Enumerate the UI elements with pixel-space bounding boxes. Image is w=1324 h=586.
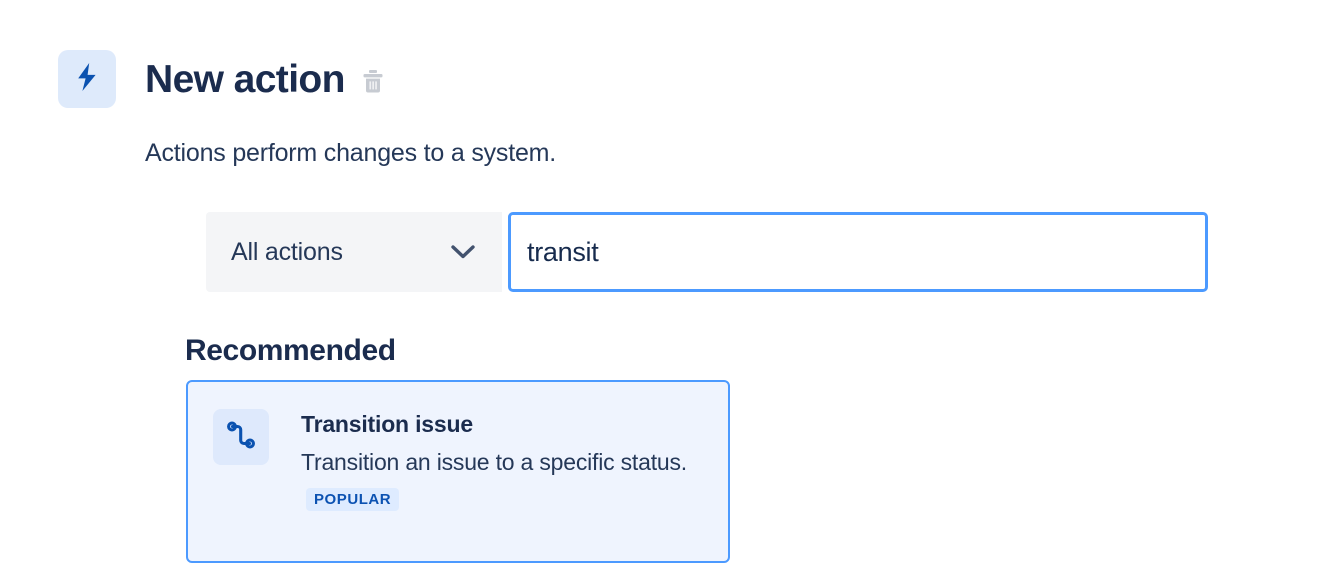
- action-card-title: Transition issue: [301, 410, 708, 439]
- lightning-bolt-icon: [74, 62, 100, 97]
- status-badge: POPULAR: [306, 488, 399, 511]
- page-title: New action: [145, 60, 345, 99]
- action-type-icon-tile: [58, 50, 116, 108]
- action-card-transition-issue[interactable]: Transition issue Transition an issue to …: [186, 380, 730, 563]
- action-card-description: Transition an issue to a specific status…: [301, 443, 708, 520]
- page-subtitle: Actions perform changes to a system.: [145, 138, 556, 168]
- title-group: New action: [145, 50, 386, 108]
- action-search-field[interactable]: [508, 212, 1208, 292]
- trash-icon[interactable]: [360, 67, 386, 95]
- action-filter-label: All actions: [231, 238, 343, 267]
- chevron-down-icon: [450, 244, 476, 260]
- action-search-row: All actions: [206, 212, 1208, 292]
- transition-path-icon: [225, 419, 257, 456]
- action-card-icon-tile: [213, 409, 269, 465]
- action-filter-dropdown[interactable]: All actions: [206, 212, 502, 292]
- action-card-text: Transition issue Transition an issue to …: [301, 409, 708, 520]
- recommended-heading: Recommended: [185, 333, 396, 369]
- action-card-description-text: Transition an issue to a specific status…: [301, 449, 687, 475]
- search-input[interactable]: [527, 237, 1189, 268]
- page-header: New action: [58, 50, 386, 108]
